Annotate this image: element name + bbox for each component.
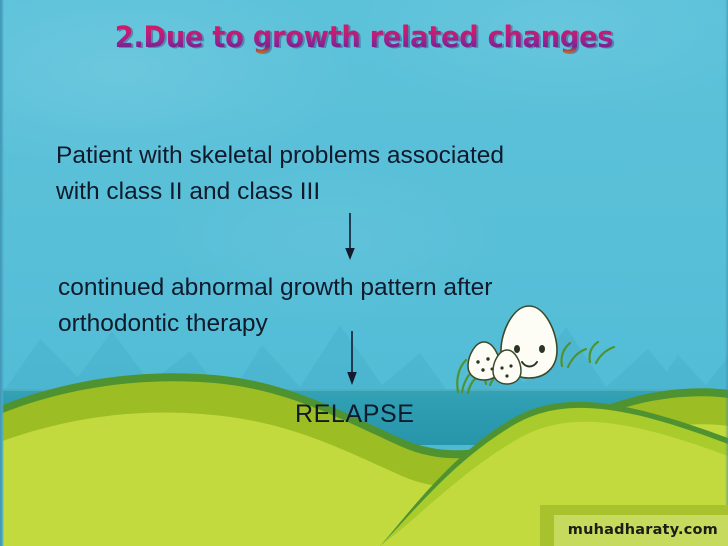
- relapse-label: RELAPSE: [295, 400, 415, 429]
- slide-canvas: 2.Due to growth related changes 2.Due to…: [0, 0, 728, 546]
- down-arrow-icon-2: [340, 330, 364, 390]
- down-arrow-icon-1: [338, 212, 362, 264]
- watermark-label: muhadharaty.com: [554, 515, 728, 546]
- left-edge-strip: [0, 0, 4, 546]
- body-paragraph-2: continued abnormal growth pattern after …: [58, 270, 492, 342]
- body-paragraph-1: Patient with skeletal problems associate…: [56, 138, 504, 210]
- page-title: 2.Due to growth related changes: [22, 20, 706, 54]
